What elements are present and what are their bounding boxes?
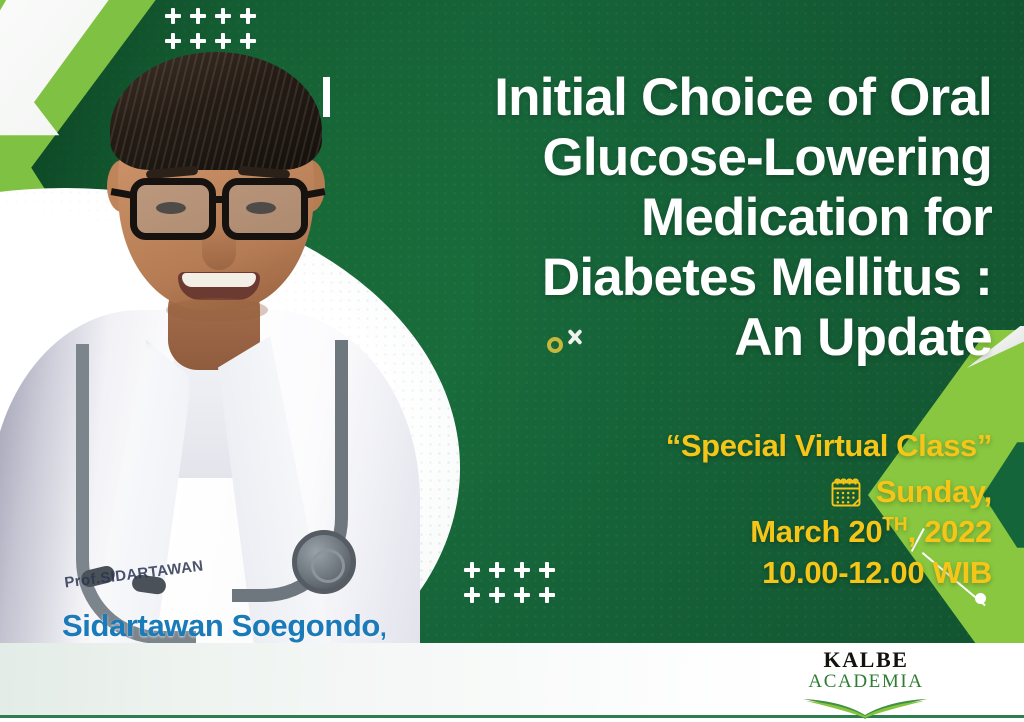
stethoscope-chestpiece bbox=[292, 530, 356, 594]
event-date-row: March 20TH, 2022 bbox=[420, 512, 992, 552]
event-date-main: March 20 bbox=[750, 514, 882, 549]
title-line-4: Diabetes Mellitus : bbox=[300, 248, 992, 308]
event-day: Sunday, bbox=[876, 472, 992, 512]
pointer-dot bbox=[975, 593, 986, 604]
special-class-label: “Special Virtual Class” bbox=[420, 428, 992, 464]
plus-icon bbox=[240, 8, 256, 24]
event-day-row: Sunday, bbox=[420, 472, 992, 512]
event-time: 10.00-12.00 WIB bbox=[420, 553, 992, 593]
plus-icon bbox=[190, 8, 206, 24]
event-datetime-block: Sunday, March 20TH, 2022 10.00-12.00 WIB bbox=[420, 472, 992, 593]
hair bbox=[110, 52, 322, 170]
mouth bbox=[178, 272, 260, 300]
eyeglasses-bridge bbox=[214, 196, 226, 203]
logo-brand-text: KALBE bbox=[786, 648, 946, 671]
title-line-2: Glucose-Lowering bbox=[300, 128, 992, 188]
title-line-5: An Update bbox=[300, 308, 992, 368]
logo-sub-text: ACADEMIA bbox=[786, 671, 946, 693]
webinar-poster: Prof.SIDARTAWAN Initial Choice of Oral G… bbox=[0, 0, 1024, 722]
plus-icon bbox=[190, 33, 206, 49]
title-line-1: Initial Choice of Oral bbox=[300, 68, 992, 128]
calendar-icon bbox=[829, 475, 863, 509]
eyeglasses-lens-left bbox=[130, 178, 216, 240]
kalbe-academia-logo: KALBE ACADEMIA bbox=[786, 648, 946, 722]
speaker-name-comma: , bbox=[380, 615, 386, 642]
speaker-name: Sidartawan Soegondo bbox=[62, 608, 380, 643]
title-line-3: Medication for bbox=[300, 188, 992, 248]
teeth bbox=[182, 273, 256, 287]
chin-shading bbox=[166, 298, 268, 322]
book-swoosh-icon bbox=[786, 695, 946, 722]
event-date-ordinal: TH bbox=[882, 515, 907, 536]
plus-icon bbox=[165, 33, 181, 49]
plus-pattern-top-left bbox=[165, 8, 256, 49]
plus-icon bbox=[215, 33, 231, 49]
page-title: Initial Choice of Oral Glucose-Lowering … bbox=[300, 68, 992, 367]
stethoscope-tube-left bbox=[76, 344, 196, 644]
speaker-name-row: Sidartawan Soegondo, bbox=[62, 608, 386, 644]
eyeglasses-lens-right bbox=[222, 178, 308, 240]
plus-icon bbox=[215, 8, 231, 24]
plus-icon bbox=[165, 8, 181, 24]
event-date-rest: , 2022 bbox=[908, 514, 992, 549]
plus-icon bbox=[240, 33, 256, 49]
